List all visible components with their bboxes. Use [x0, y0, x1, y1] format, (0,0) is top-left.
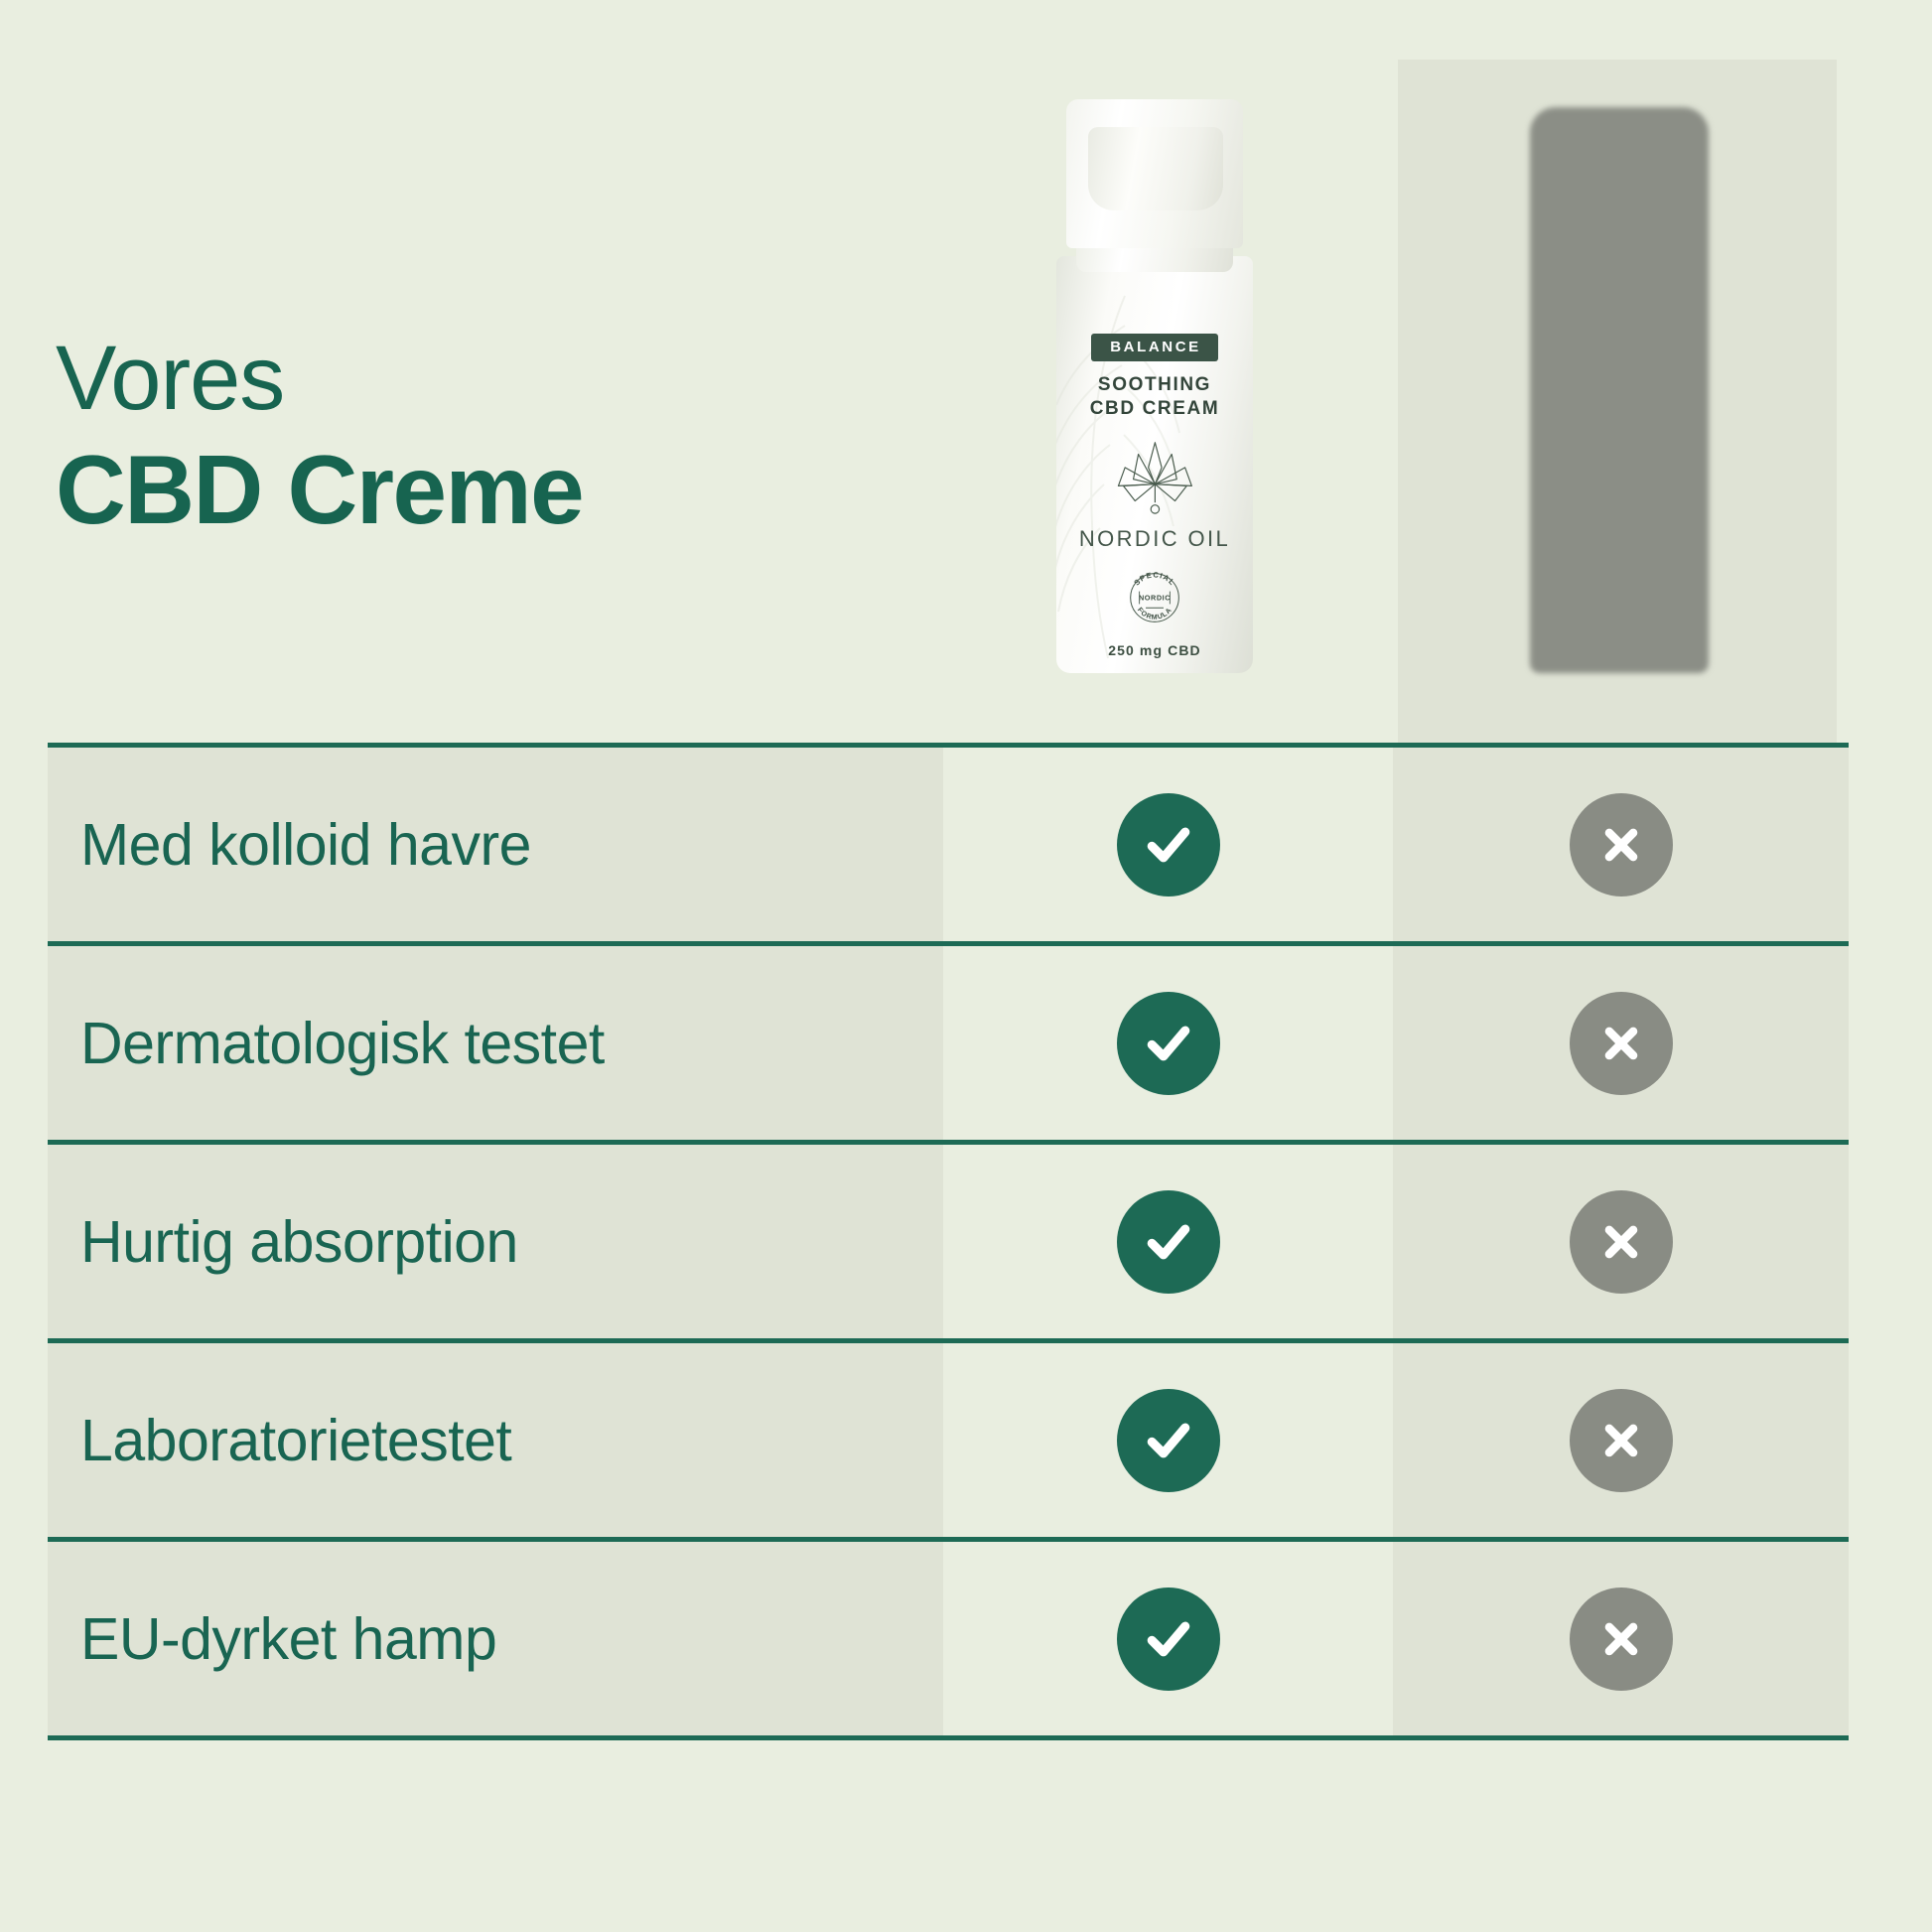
check-icon [1117, 1389, 1220, 1492]
svg-text:FORMULA: FORMULA [1136, 607, 1173, 621]
product-name-line-2: CBD CREAM [1056, 397, 1253, 421]
check-icon [1117, 992, 1220, 1095]
seal-bottom-text: FORMULA [1136, 607, 1173, 621]
special-formula-seal-icon: SPECIAL FORMULA NORDIC [1123, 566, 1186, 629]
feature-label: Hurtig absorption [48, 1145, 943, 1338]
cross-icon [1570, 793, 1673, 897]
brand-name: NORDIC OIL [1056, 526, 1253, 552]
our-product-cell [943, 946, 1393, 1140]
competitor-product-silhouette [1530, 107, 1709, 673]
product-name-line-1: SOOTHING [1056, 373, 1253, 397]
competitor-product-cell [1393, 946, 1849, 1140]
comparison-infographic: Vores CBD Creme BALANCE [0, 0, 1932, 1932]
competitor-product-cell [1393, 1343, 1849, 1537]
our-product-cell [943, 1542, 1393, 1735]
table-row: Dermatologisk testet [48, 941, 1849, 1140]
title-line-1: Vores [56, 328, 870, 430]
comparison-table: Med kolloid havreDermatologisk testetHur… [48, 743, 1849, 1740]
table-row: Med kolloid havre [48, 743, 1849, 941]
bottle-label: BALANCE SOOTHING CBD CREAM [1056, 334, 1253, 658]
feature-label: Dermatologisk testet [48, 946, 943, 1140]
seal-center-text: NORDIC [1139, 593, 1171, 602]
bottle-pump-head [1088, 127, 1223, 210]
check-icon [1117, 1190, 1220, 1294]
table-row: Laboratorietestet [48, 1338, 1849, 1537]
feature-label: EU-dyrket hamp [48, 1542, 943, 1735]
balance-badge: BALANCE [1091, 334, 1218, 361]
check-icon [1117, 793, 1220, 897]
competitor-product-cell [1393, 748, 1849, 941]
our-product-cell [943, 748, 1393, 941]
page-title: Vores CBD Creme [56, 328, 870, 545]
our-product-cell [943, 1145, 1393, 1338]
competitor-product-cell [1393, 1145, 1849, 1338]
our-product-cell [943, 1343, 1393, 1537]
product-name: SOOTHING CBD CREAM [1056, 373, 1253, 422]
feature-label: Laboratorietestet [48, 1343, 943, 1537]
cross-icon [1570, 1587, 1673, 1691]
table-row: Hurtig absorption [48, 1140, 1849, 1338]
cross-icon [1570, 1190, 1673, 1294]
cross-icon [1570, 992, 1673, 1095]
competitor-product-cell [1393, 1542, 1849, 1735]
product-bottle-image: BALANCE SOOTHING CBD CREAM [1050, 99, 1259, 675]
cbd-strength: 250 mg CBD [1056, 642, 1253, 658]
check-icon [1117, 1587, 1220, 1691]
table-row: EU-dyrket hamp [48, 1537, 1849, 1740]
feature-label: Med kolloid havre [48, 748, 943, 941]
cross-icon [1570, 1389, 1673, 1492]
cannabis-leaf-icon [1105, 436, 1205, 519]
bottle-body: BALANCE SOOTHING CBD CREAM [1056, 256, 1253, 673]
title-line-2: CBD Creme [56, 436, 870, 545]
